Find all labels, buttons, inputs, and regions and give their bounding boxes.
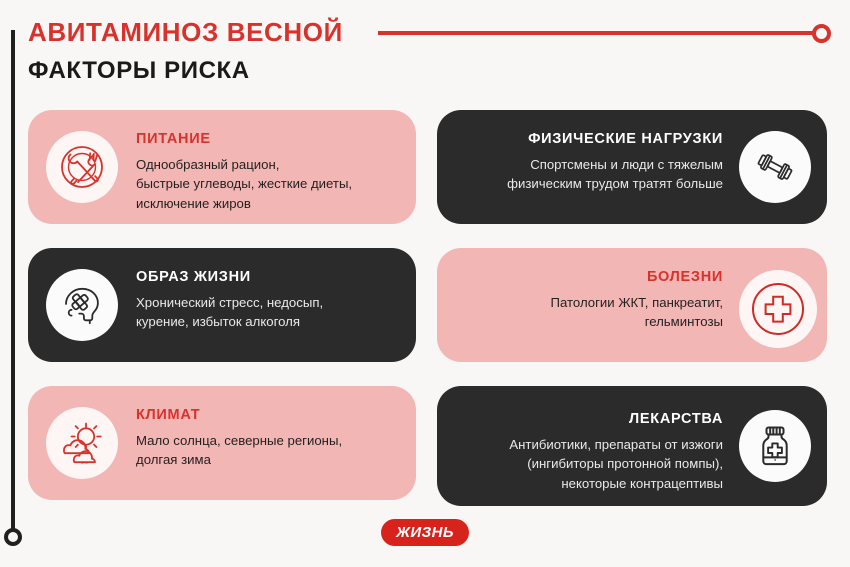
pill-bottle-icon [739,410,811,482]
card-nutrition-body: Питание Однообразный рацион, быстрые угл… [136,132,400,213]
card-medicines: Лекарства Антибиотики, препараты от изжо… [437,386,827,506]
card-climate: Климат Мало солнца, северные регионы, до… [28,386,416,500]
card-physical-load-title: Физические нагрузки [455,132,723,148]
brand-logo[interactable]: Жизнь [381,519,469,546]
card-diseases-text: Патологии ЖКТ, панкреатит, гельминтозы [455,293,723,332]
card-physical-load-body: Физические нагрузки Спортсмены и люди с … [455,132,723,194]
card-nutrition: Питание Однообразный рацион, быстрые угл… [28,110,416,224]
card-climate-title: Климат [136,408,400,424]
card-diseases-title: Болезни [455,270,723,286]
page-title: Авитаминоз весной [28,17,343,48]
dumbbell-icon [739,131,811,203]
card-lifestyle-body: Образ жизни Хронический стресс, недосып,… [136,270,400,332]
card-medicines-text: Антибиотики, препараты от изжоги (ингиби… [455,435,723,493]
infographic-canvas: Авитаминоз весной Факторы риска Питание … [0,0,850,567]
left-rule-end-dot-icon [4,528,22,546]
card-medicines-body: Лекарства Антибиотики, препараты от изжо… [455,412,723,493]
sun-cloud-icon [46,407,118,479]
card-climate-body: Климат Мало солнца, северные регионы, до… [136,408,400,470]
card-diseases-body: Болезни Патологии ЖКТ, панкреатит, гельм… [455,270,723,332]
left-vertical-rule [11,30,15,535]
card-lifestyle-text: Хронический стресс, недосып, курение, из… [136,293,400,332]
brand-logo-text: Жизнь [396,524,454,541]
card-nutrition-title: Питание [136,132,400,148]
card-nutrition-text: Однообразный рацион, быстрые углеводы, ж… [136,155,400,213]
card-diseases: Болезни Патологии ЖКТ, панкреатит, гельм… [437,248,827,362]
page-subtitle: Факторы риска [28,57,250,85]
card-medicines-title: Лекарства [455,412,723,428]
plate-spoon-fork-icon [46,131,118,203]
top-horizontal-rule [378,31,818,35]
card-climate-text: Мало солнца, северные регионы, долгая зи… [136,431,400,470]
medical-cross-icon [739,270,817,348]
head-bandage-icon [46,269,118,341]
card-lifestyle-title: Образ жизни [136,270,400,286]
card-physical-load-text: Спортсмены и люди с тяжелым физическим т… [455,155,723,194]
card-physical-load: Физические нагрузки Спортсмены и люди с … [437,110,827,224]
top-rule-end-dot-icon [812,24,831,43]
card-lifestyle: Образ жизни Хронический стресс, недосып,… [28,248,416,362]
